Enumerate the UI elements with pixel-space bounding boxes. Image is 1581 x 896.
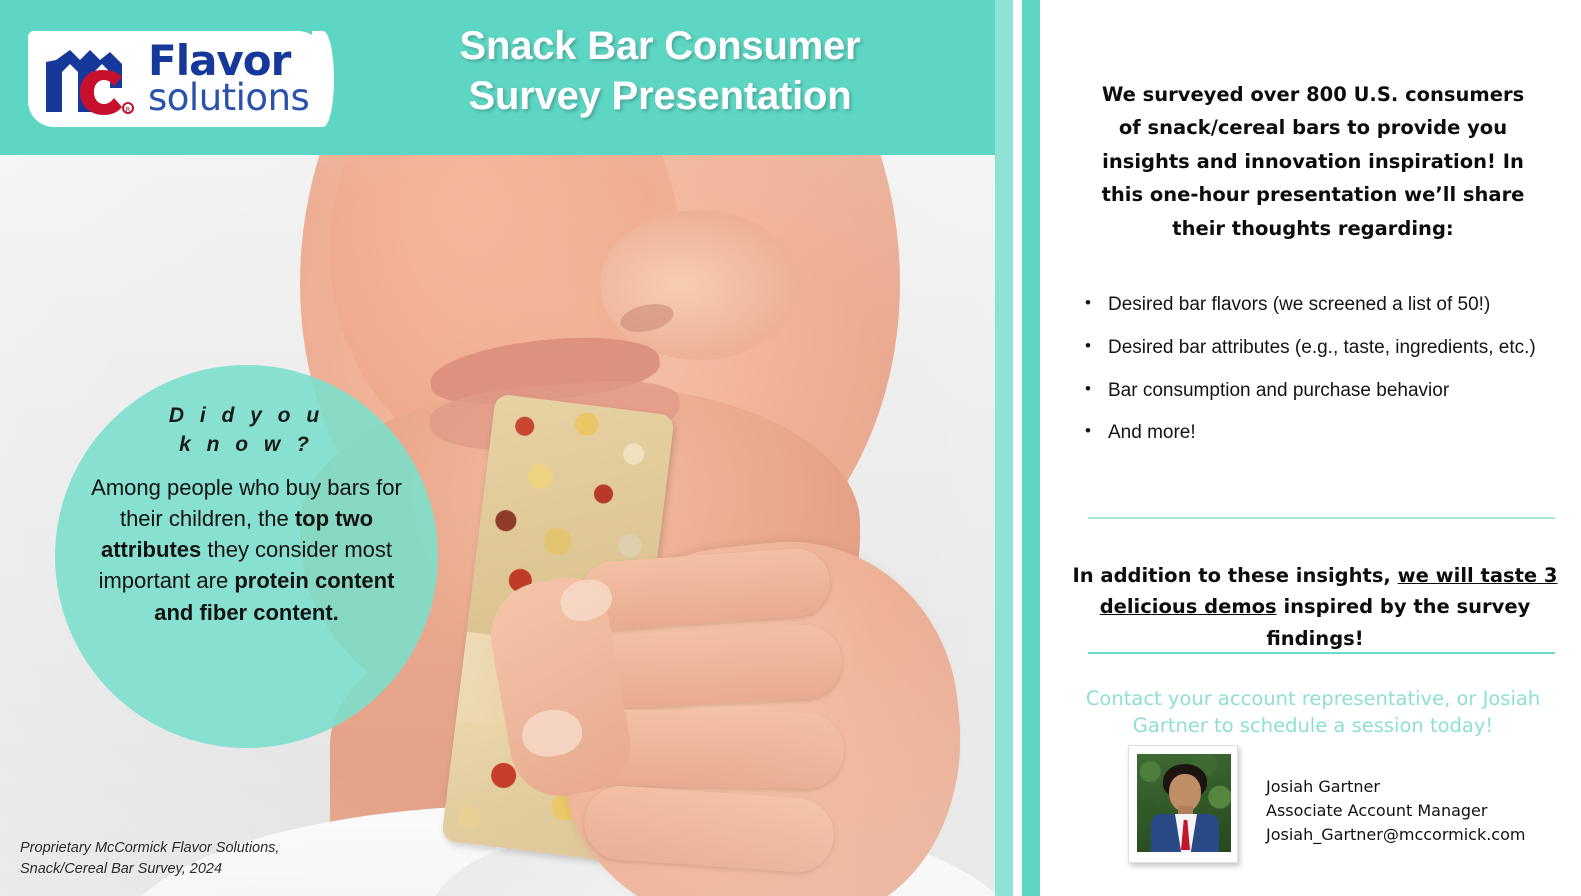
page-title-line1: Snack Bar Consumer bbox=[360, 22, 960, 72]
contact-email[interactable]: Josiah_Gartner@mccormick.com bbox=[1266, 823, 1525, 847]
list-item: Desired bar attributes (e.g., taste, ing… bbox=[1078, 333, 1578, 364]
footnote-line1: Proprietary McCormick Flavor Solutions, bbox=[20, 838, 279, 859]
logo-flavor-text: Flavor bbox=[148, 43, 309, 80]
demos-paragraph: In addition to these insights, we will t… bbox=[1060, 560, 1570, 655]
contact-name: Josiah Gartner bbox=[1266, 775, 1525, 799]
proprietary-footnote: Proprietary McCormick Flavor Solutions, … bbox=[20, 838, 279, 880]
avatar bbox=[1137, 754, 1231, 852]
svg-text:R: R bbox=[126, 106, 131, 114]
contact-role: Associate Account Manager bbox=[1266, 799, 1525, 823]
avatar-frame bbox=[1128, 745, 1238, 863]
divider-bar-light bbox=[995, 0, 1013, 896]
page-title-line2: Survey Presentation bbox=[360, 72, 960, 122]
logo-wordmark: Flavor solutions bbox=[148, 43, 309, 115]
contact-call-to-action: Contact your account representative, or … bbox=[1068, 685, 1558, 740]
mccormick-mc-icon: R bbox=[42, 42, 138, 116]
list-item: And more! bbox=[1078, 418, 1578, 449]
intro-paragraph: We surveyed over 800 U.S. consumers of s… bbox=[1088, 78, 1538, 246]
mccormick-flavor-solutions-logo: R Flavor solutions bbox=[28, 31, 324, 127]
highlights-list: Desired bar flavors (we screened a list … bbox=[1078, 290, 1578, 461]
did-you-know-heading-line2: k n o w ? bbox=[77, 430, 416, 459]
did-you-know-callout: D i d y o u k n o w ? Among people who b… bbox=[55, 365, 438, 748]
contact-card: Josiah Gartner Associate Account Manager… bbox=[1128, 745, 1525, 863]
logo-solutions-text: solutions bbox=[148, 82, 309, 115]
footnote-line2: Snack/Cereal Bar Survey, 2024 bbox=[20, 859, 279, 880]
page-title: Snack Bar Consumer Survey Presentation bbox=[360, 22, 960, 121]
contact-details: Josiah Gartner Associate Account Manager… bbox=[1266, 775, 1525, 847]
left-panel: D i d y o u k n o w ? Among people who b… bbox=[0, 0, 995, 896]
right-panel: We surveyed over 800 U.S. consumers of s… bbox=[1040, 0, 1581, 896]
demos-text-1: In addition to these insights, bbox=[1072, 564, 1397, 587]
did-you-know-body: Among people who buy bars for their chil… bbox=[77, 472, 416, 628]
divider-rule-top bbox=[1088, 517, 1555, 519]
list-item: Bar consumption and purchase behavior bbox=[1078, 376, 1578, 407]
divider-rule-bottom bbox=[1088, 652, 1555, 654]
demos-text-2: inspired by the survey findings! bbox=[1266, 595, 1530, 650]
list-item: Desired bar flavors (we screened a list … bbox=[1078, 290, 1578, 321]
divider-bar-dark bbox=[1022, 0, 1040, 896]
did-you-know-heading-line1: D i d y o u bbox=[77, 401, 416, 430]
did-you-know-heading: D i d y o u k n o w ? bbox=[77, 401, 416, 460]
divider-gap bbox=[1013, 0, 1022, 896]
